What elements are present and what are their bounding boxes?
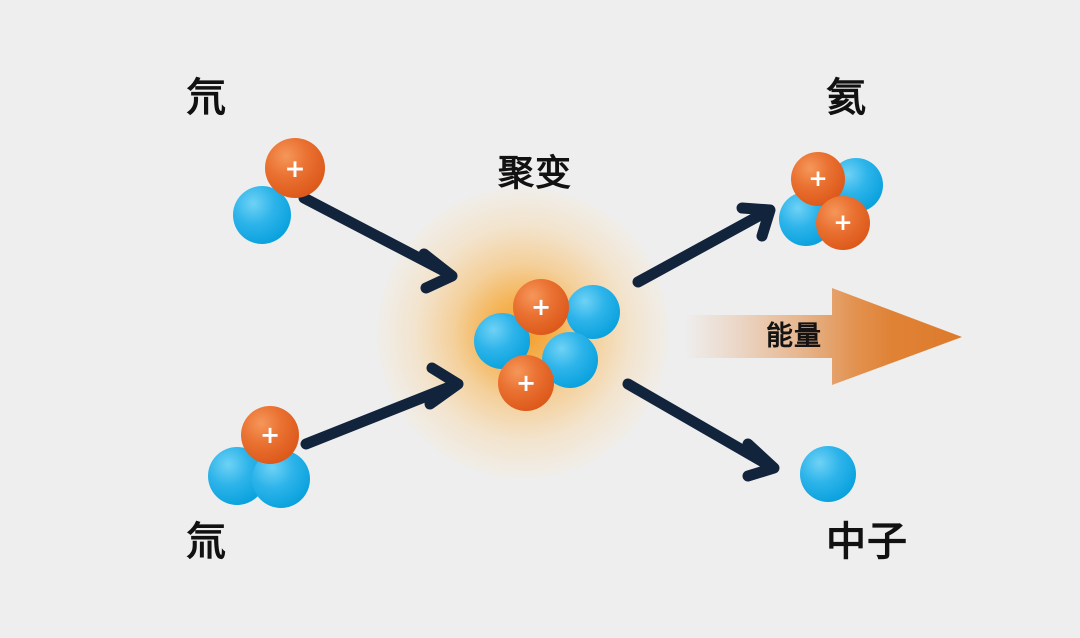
arrow-deuterium-to-fusion — [304, 198, 452, 288]
proton-particle: + — [513, 279, 569, 335]
proton-plus-icon: + — [241, 406, 299, 464]
proton-plus-icon: + — [513, 279, 569, 335]
neutron-particle — [800, 446, 856, 502]
proton-plus-icon: + — [265, 138, 325, 198]
arrow-tritium-to-fusion — [306, 368, 458, 444]
proton-plus-icon: + — [498, 355, 554, 411]
neutron-particle — [566, 285, 620, 339]
proton-particle: + — [816, 196, 870, 250]
fusion-diagram: + + + + + + 氘 氚 聚变 — [0, 0, 1080, 638]
proton-particle: + — [498, 355, 554, 411]
proton-particle: + — [241, 406, 299, 464]
label-energy: 能量 — [766, 314, 822, 353]
arrow-fusion-to-helium — [638, 208, 770, 282]
proton-plus-icon: + — [816, 196, 870, 250]
proton-particle: + — [265, 138, 325, 198]
arrow-fusion-to-neutron — [628, 384, 774, 476]
